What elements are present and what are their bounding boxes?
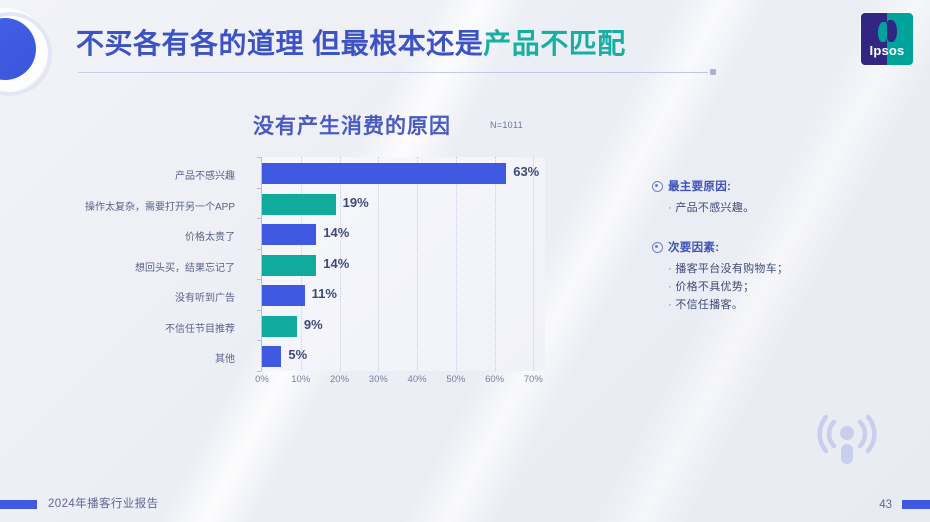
chart-bar-row: 其他5% — [0, 346, 930, 368]
note-item: 播客平台没有购物车； — [668, 260, 852, 276]
bar-value-label: 19% — [343, 195, 369, 210]
bar-category-label: 价格太贵了 — [185, 228, 235, 243]
bar-value-label: 9% — [304, 317, 323, 332]
chart-bar — [262, 255, 316, 276]
note-heading-text: 最主要原因: — [668, 178, 731, 194]
note-spacer — [652, 217, 852, 239]
chart-title: 没有产生消费的原因 — [253, 110, 451, 140]
podcast-icon — [812, 406, 882, 476]
chart-sample-size: N=1011 — [490, 120, 523, 130]
axis-tick — [257, 249, 261, 250]
page-number: 43 — [879, 499, 892, 511]
axis-tick — [257, 371, 261, 372]
page-title-main: 不买各有各的道理 但最根本还是 — [76, 28, 483, 59]
bar-category-label: 操作太复杂，需要打开另一个APP — [85, 198, 235, 213]
bar-value-label: 14% — [323, 225, 349, 240]
x-axis-tick-label: 40% — [408, 374, 427, 385]
chart-bar — [262, 194, 336, 215]
bar-value-label: 14% — [323, 256, 349, 271]
bar-value-label: 5% — [288, 347, 307, 362]
x-axis-tick-label: 30% — [369, 374, 388, 385]
bar-category-label: 其他 — [215, 350, 235, 365]
note-item: 不信任播客。 — [668, 296, 852, 312]
note-heading-text: 次要因素: — [668, 239, 719, 255]
page-title-highlight: 产品不匹配 — [483, 28, 626, 59]
ipsos-logo: Ipsos — [861, 13, 913, 65]
x-axis-tick-label: 10% — [291, 374, 310, 385]
bullet-circle-icon — [652, 242, 663, 253]
axis-tick — [257, 310, 261, 311]
title-divider-dot — [710, 69, 716, 75]
bar-category-label: 不信任节目推荐 — [165, 320, 235, 335]
bar-category-label: 没有听到广告 — [175, 289, 235, 304]
bar-category-label: 想回头买，结果忘记了 — [135, 259, 235, 274]
axis-tick — [257, 218, 261, 219]
x-axis-tick-label: 70% — [524, 374, 543, 385]
x-axis-tick-label: 20% — [330, 374, 349, 385]
footer-accent-bar — [0, 500, 37, 509]
note-item: 产品不感兴趣。 — [668, 199, 852, 215]
bar-value-label: 11% — [312, 286, 337, 301]
chart-bar — [262, 316, 297, 337]
title-divider — [78, 72, 708, 73]
bar-value-label: 63% — [513, 164, 539, 179]
axis-tick — [257, 188, 261, 189]
x-axis-tick-label: 0% — [255, 374, 269, 385]
insight-notes: 最主要原因:产品不感兴趣。次要因素:播客平台没有购物车；价格不具优势；不信任播客… — [652, 178, 852, 314]
bullet-circle-icon — [652, 181, 663, 192]
footer-accent-bar-right — [902, 500, 930, 509]
footer-report-name: 2024年播客行业报告 — [48, 495, 158, 511]
bar-category-label: 产品不感兴趣 — [175, 167, 235, 182]
chart-bar-row: 不信任节目推荐9% — [0, 316, 930, 338]
chart-bar — [262, 346, 281, 367]
chart-bar — [262, 224, 316, 245]
axis-tick — [257, 340, 261, 341]
note-item: 价格不具优势； — [668, 278, 852, 294]
axis-tick — [257, 279, 261, 280]
logo-wordmark: Ipsos — [861, 43, 913, 58]
note-heading: 次要因素: — [652, 239, 852, 255]
x-axis-tick-label: 50% — [446, 374, 465, 385]
note-heading: 最主要原因: — [652, 178, 852, 194]
page-title: 不买各有各的道理 但最根本还是产品不匹配 — [76, 22, 626, 62]
x-axis-tick-label: 60% — [485, 374, 504, 385]
chart-bar — [262, 285, 305, 306]
slide: 不买各有各的道理 但最根本还是产品不匹配 Ipsos 没有产生消费的原因 N=1… — [0, 0, 930, 522]
axis-tick — [257, 157, 261, 158]
chart-bar — [262, 163, 506, 184]
logo-faces-icon — [876, 20, 898, 44]
